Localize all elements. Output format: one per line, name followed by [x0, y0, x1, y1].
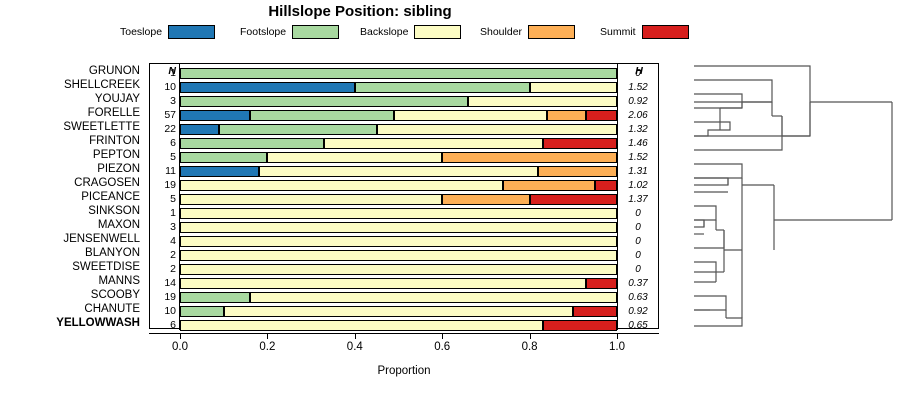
stacked-bar — [180, 68, 617, 79]
bar-segment-backslope — [468, 96, 617, 107]
bar-segment-footslope — [180, 96, 468, 107]
stacked-bar — [180, 292, 617, 303]
category-label-column: GRUNONSHELLCREEKYOUJAYFORELLESWEETLETTEF… — [0, 63, 146, 329]
bar-segment-toeslope — [180, 124, 219, 135]
n-value: 10 — [150, 82, 176, 93]
category-label: PIEZON — [97, 164, 140, 175]
legend-swatch-toeslope — [168, 25, 215, 39]
category-label: CRAGOSEN — [74, 178, 140, 189]
bar-segment-summit — [595, 180, 617, 191]
bar-segment-backslope — [324, 138, 543, 149]
n-value: 6 — [150, 320, 176, 331]
stacked-bar — [180, 110, 617, 121]
category-label: SHELLCREEK — [64, 80, 140, 91]
n-value: 2 — [150, 250, 176, 261]
category-label: PICEANCE — [81, 192, 140, 203]
category-label: MAXON — [98, 220, 140, 231]
bar-segment-backslope — [259, 166, 539, 177]
stacked-bar — [180, 278, 617, 289]
n-value: 6 — [150, 138, 176, 149]
bar-segment-backslope — [180, 222, 617, 233]
dendrogram-svg — [686, 60, 900, 332]
bar-segment-footslope — [355, 82, 530, 93]
bar-segment-backslope — [180, 180, 503, 191]
bar-segment-shoulder — [503, 180, 595, 191]
n-value: 22 — [150, 124, 176, 135]
h-value: 2.06 — [621, 110, 655, 121]
category-label: SCOOBY — [91, 290, 140, 301]
n-value: 14 — [150, 278, 176, 289]
bar-segment-footslope — [180, 292, 250, 303]
bar-segment-shoulder — [547, 110, 586, 121]
bar-segment-footslope — [180, 68, 617, 79]
bar-segment-shoulder — [442, 194, 529, 205]
n-value: 3 — [150, 96, 176, 107]
legend-swatch-footslope — [292, 25, 339, 39]
legend-item-backslope: Backslope — [360, 25, 461, 39]
bar-segment-shoulder — [442, 152, 617, 163]
x-axis-line — [149, 333, 659, 334]
category-label: MANNS — [98, 276, 140, 287]
n-value: 2 — [150, 264, 176, 275]
plot-area: NH10101.5230.92572.06221.3261.4651.52111… — [149, 63, 659, 329]
dendrogram — [686, 60, 900, 332]
bar-segment-summit — [586, 278, 617, 289]
x-tick-label: 0.0 — [172, 341, 188, 353]
category-label: GRUNON — [89, 66, 140, 77]
bar-segment-backslope — [180, 194, 442, 205]
stacked-bar — [180, 222, 617, 233]
category-label: CHANUTE — [84, 304, 140, 315]
stacked-bar — [180, 180, 617, 191]
x-tick — [617, 333, 618, 339]
n-value: 5 — [150, 194, 176, 205]
n-value: 19 — [150, 180, 176, 191]
category-label: PEPTON — [93, 150, 140, 161]
legend-item-toeslope: Toeslope — [120, 25, 215, 39]
category-label: FORELLE — [88, 108, 140, 119]
legend-label: Shoulder — [480, 26, 522, 38]
h-value: 0.92 — [621, 306, 655, 317]
stacked-bar — [180, 306, 617, 317]
h-value: 1.46 — [621, 138, 655, 149]
x-tick-label: 0.6 — [434, 341, 450, 353]
legend-item-summit: Summit — [600, 25, 689, 39]
n-value: 19 — [150, 292, 176, 303]
n-value: 5 — [150, 152, 176, 163]
x-tick — [180, 333, 181, 339]
bar-segment-backslope — [180, 278, 586, 289]
stacked-bar — [180, 236, 617, 247]
bar-segment-summit — [573, 306, 617, 317]
bar-rows: NH10101.5230.92572.06221.3261.4651.52111… — [150, 64, 658, 328]
bar-segment-shoulder — [538, 166, 617, 177]
n-value: 1 — [150, 68, 176, 79]
legend-label: Footslope — [240, 26, 286, 38]
n-value: 10 — [150, 306, 176, 317]
h-value: 1.52 — [621, 82, 655, 93]
h-value: 0 — [621, 236, 655, 247]
stacked-bar — [180, 320, 617, 331]
bar-segment-summit — [586, 110, 617, 121]
bar-segment-backslope — [530, 82, 617, 93]
x-tick-label: 0.4 — [347, 341, 363, 353]
category-label: SINKSON — [88, 206, 140, 217]
bar-segment-summit — [543, 320, 617, 331]
h-value: 0 — [621, 250, 655, 261]
legend-swatch-shoulder — [528, 25, 575, 39]
legend: ToeslopeFootslopeBackslopeShoulderSummit — [120, 24, 720, 40]
stacked-bar — [180, 124, 617, 135]
category-label: SWEETLETTE — [63, 122, 140, 133]
x-tick — [355, 333, 356, 339]
category-label: SWEETDISE — [72, 262, 140, 273]
bar-segment-backslope — [394, 110, 547, 121]
category-label: YELLOWWASH — [56, 318, 140, 329]
n-value: 3 — [150, 222, 176, 233]
stacked-bar — [180, 152, 617, 163]
bar-segment-toeslope — [180, 110, 250, 121]
legend-label: Backslope — [360, 26, 408, 38]
h-value: 0 — [621, 222, 655, 233]
chart-root: Hillslope Position: sibling ToeslopeFoot… — [0, 0, 900, 400]
category-label: YOUJAY — [95, 94, 140, 105]
h-value: 1.32 — [621, 124, 655, 135]
category-label: BLANYON — [85, 248, 140, 259]
n-value: 1 — [150, 208, 176, 219]
bar-segment-toeslope — [180, 166, 259, 177]
stacked-bar — [180, 194, 617, 205]
h-value: 0 — [621, 264, 655, 275]
bar-segment-backslope — [180, 250, 617, 261]
legend-item-shoulder: Shoulder — [480, 25, 575, 39]
bar-segment-backslope — [180, 320, 543, 331]
bar-segment-backslope — [180, 208, 617, 219]
stacked-bar — [180, 166, 617, 177]
stacked-bar — [180, 96, 617, 107]
legend-swatch-summit — [642, 25, 689, 39]
bar-segment-summit — [530, 194, 617, 205]
stacked-bar — [180, 82, 617, 93]
bar-segment-backslope — [180, 264, 617, 275]
stacked-bar — [180, 208, 617, 219]
bar-segment-backslope — [180, 236, 617, 247]
h-value: 0 — [621, 68, 655, 79]
n-value: 57 — [150, 110, 176, 121]
bar-segment-toeslope — [180, 82, 355, 93]
bar-segment-footslope — [180, 306, 224, 317]
x-axis-label: Proportion — [149, 365, 659, 377]
stacked-bar — [180, 264, 617, 275]
legend-label: Summit — [600, 26, 636, 38]
bar-segment-footslope — [180, 152, 267, 163]
legend-swatch-backslope — [414, 25, 461, 39]
x-tick-label: 0.8 — [522, 341, 538, 353]
x-tick — [530, 333, 531, 339]
h-value: 0.92 — [621, 96, 655, 107]
x-tick — [442, 333, 443, 339]
h-value: 0.37 — [621, 278, 655, 289]
bar-segment-footslope — [180, 138, 324, 149]
h-value: 0.63 — [621, 292, 655, 303]
stacked-bar — [180, 138, 617, 149]
page-title: Hillslope Position: sibling — [0, 3, 720, 20]
h-value: 0.65 — [621, 320, 655, 331]
h-value: 1.37 — [621, 194, 655, 205]
stacked-bar — [180, 250, 617, 261]
n-value: 4 — [150, 236, 176, 247]
legend-label: Toeslope — [120, 26, 162, 38]
category-label: JENSENWELL — [63, 234, 140, 245]
bar-segment-footslope — [250, 110, 394, 121]
bar-segment-summit — [543, 138, 617, 149]
h-value: 0 — [621, 208, 655, 219]
bar-segment-backslope — [267, 152, 442, 163]
legend-item-footslope: Footslope — [240, 25, 339, 39]
category-label: FRINTON — [89, 136, 140, 147]
bar-segment-backslope — [224, 306, 574, 317]
bar-segment-footslope — [219, 124, 376, 135]
x-tick-label: 0.2 — [259, 341, 275, 353]
bar-segment-backslope — [377, 124, 617, 135]
h-value: 1.52 — [621, 152, 655, 163]
x-tick — [267, 333, 268, 339]
h-value: 1.31 — [621, 166, 655, 177]
bar-segment-backslope — [250, 292, 617, 303]
n-value: 11 — [150, 166, 176, 177]
x-tick-label: 1.0 — [609, 341, 625, 353]
h-value: 1.02 — [621, 180, 655, 191]
